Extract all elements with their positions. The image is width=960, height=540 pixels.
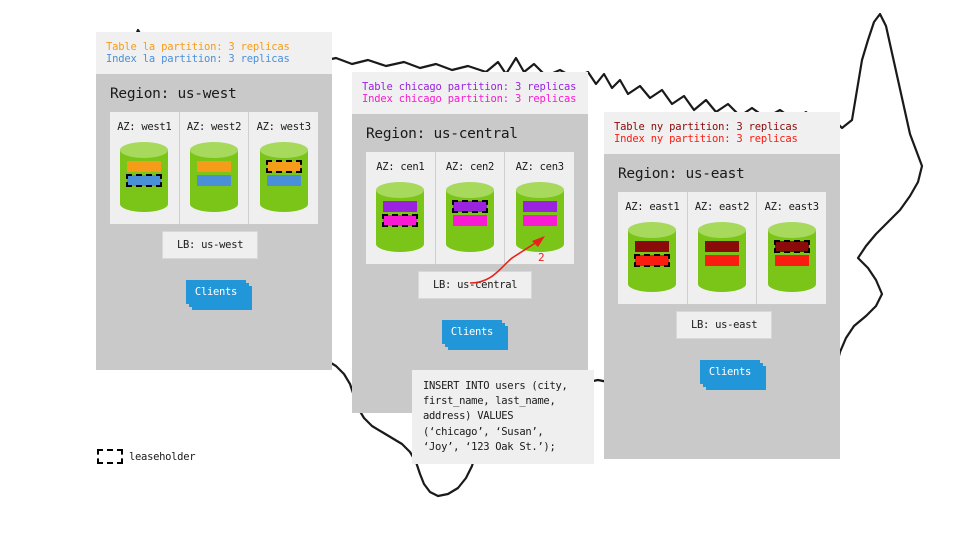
load-balancer-us-west[interactable]: LB: us-west <box>162 231 258 259</box>
table-partition-line-us-west: Table la partition: 3 replicas <box>106 41 322 53</box>
az-cell-west2[interactable]: AZ: west2 <box>180 112 250 224</box>
table-partition-line-us-east: Table ny partition: 3 replicas <box>614 121 830 133</box>
az-strip-us-east: AZ: east1AZ: east2AZ: east3 <box>618 192 826 304</box>
cylinder-top <box>120 142 168 158</box>
region-title-us-west: Region: us-west <box>96 74 332 112</box>
index-replica-west2[interactable] <box>197 175 231 186</box>
node-cylinder-cen3[interactable] <box>516 182 564 252</box>
clients-button[interactable]: Clients <box>442 320 502 344</box>
index-replica-east2[interactable] <box>705 255 739 266</box>
load-balancer-us-east[interactable]: LB: us-east <box>676 311 772 339</box>
legend-label: leaseholder <box>129 451 195 463</box>
sql-statement-callout: INSERT INTO users (city, first_name, las… <box>412 370 594 464</box>
region-panel-us-west: Table la partition: 3 replicasIndex la p… <box>96 32 332 370</box>
region-body-us-east: Region: us-eastAZ: east1AZ: east2AZ: eas… <box>604 154 840 459</box>
region-body-us-central: Region: us-centralAZ: cen1AZ: cen2AZ: ce… <box>352 114 588 413</box>
region-panel-us-east: Table ny partition: 3 replicasIndex ny p… <box>604 112 840 459</box>
annotation-label-2: 2 <box>538 251 545 264</box>
load-balancer-us-central[interactable]: LB: us-central <box>418 271 532 299</box>
table-replica-east2[interactable] <box>705 241 739 252</box>
table-replica-east1[interactable] <box>635 241 669 252</box>
node-cylinder-east3[interactable] <box>768 222 816 292</box>
region-header-us-central: Table chicago partition: 3 replicasIndex… <box>352 72 588 114</box>
cylinder-top <box>190 142 238 158</box>
az-strip-us-central: AZ: cen1AZ: cen2AZ: cen3 <box>366 152 574 264</box>
node-cylinder-cen1[interactable] <box>376 182 424 252</box>
table-replica-east3-leaseholder[interactable] <box>775 241 809 252</box>
cylinder-top <box>628 222 676 238</box>
az-strip-us-west: AZ: west1AZ: west2AZ: west3 <box>110 112 318 224</box>
node-cylinder-west2[interactable] <box>190 142 238 212</box>
node-cylinder-west1[interactable] <box>120 142 168 212</box>
region-body-us-west: Region: us-westAZ: west1AZ: west2AZ: wes… <box>96 74 332 370</box>
table-replica-cen1[interactable] <box>383 201 417 212</box>
az-label-east1: AZ: east1 <box>625 201 679 213</box>
az-cell-east3[interactable]: AZ: east3 <box>757 192 826 304</box>
index-replica-west1-leaseholder[interactable] <box>127 175 161 186</box>
index-replica-east1-leaseholder[interactable] <box>635 255 669 266</box>
table-replica-west1[interactable] <box>127 161 161 172</box>
clients-stack-us-west[interactable]: Clients <box>186 280 252 310</box>
node-cylinder-east1[interactable] <box>628 222 676 292</box>
clients-stack-us-central[interactable]: Clients <box>442 320 508 350</box>
table-replica-west3-leaseholder[interactable] <box>267 161 301 172</box>
az-cell-west3[interactable]: AZ: west3 <box>249 112 318 224</box>
az-cell-cen3[interactable]: AZ: cen3 <box>505 152 574 264</box>
az-label-cen2: AZ: cen2 <box>446 161 494 173</box>
node-cylinder-east2[interactable] <box>698 222 746 292</box>
index-replica-west3[interactable] <box>267 175 301 186</box>
az-cell-east2[interactable]: AZ: east2 <box>688 192 758 304</box>
region-title-us-east: Region: us-east <box>604 154 840 192</box>
table-partition-line-us-central: Table chicago partition: 3 replicas <box>362 81 578 93</box>
node-cylinder-west3[interactable] <box>260 142 308 212</box>
cylinder-top <box>768 222 816 238</box>
leaseholder-swatch-icon <box>97 449 123 464</box>
table-replica-cen2-leaseholder[interactable] <box>453 201 487 212</box>
az-cell-cen2[interactable]: AZ: cen2 <box>436 152 506 264</box>
index-partition-line-us-east: Index ny partition: 3 replicas <box>614 133 830 145</box>
table-replica-cen3[interactable] <box>523 201 557 212</box>
cylinder-top <box>446 182 494 198</box>
az-label-cen3: AZ: cen3 <box>516 161 564 173</box>
cylinder-top <box>698 222 746 238</box>
index-replica-cen1-leaseholder[interactable] <box>383 215 417 226</box>
table-replica-west2[interactable] <box>197 161 231 172</box>
az-label-east2: AZ: east2 <box>695 201 749 213</box>
clients-button[interactable]: Clients <box>186 280 246 304</box>
az-label-west3: AZ: west3 <box>257 121 311 133</box>
clients-stack-us-east[interactable]: Clients <box>700 360 766 390</box>
az-cell-east1[interactable]: AZ: east1 <box>618 192 688 304</box>
diagram-canvas: Table la partition: 3 replicasIndex la p… <box>0 0 960 540</box>
index-replica-cen2[interactable] <box>453 215 487 226</box>
index-replica-east3[interactable] <box>775 255 809 266</box>
clients-button[interactable]: Clients <box>700 360 760 384</box>
region-panel-us-central: Table chicago partition: 3 replicasIndex… <box>352 72 588 413</box>
index-replica-cen3[interactable] <box>523 215 557 226</box>
az-label-cen1: AZ: cen1 <box>376 161 424 173</box>
legend-leaseholder: leaseholder <box>97 449 195 464</box>
az-label-west2: AZ: west2 <box>187 121 241 133</box>
az-cell-west1[interactable]: AZ: west1 <box>110 112 180 224</box>
index-partition-line-us-west: Index la partition: 3 replicas <box>106 53 322 65</box>
cylinder-top <box>516 182 564 198</box>
index-partition-line-us-central: Index chicago partition: 3 replicas <box>362 93 578 105</box>
cylinder-top <box>260 142 308 158</box>
cylinder-top <box>376 182 424 198</box>
region-header-us-west: Table la partition: 3 replicasIndex la p… <box>96 32 332 74</box>
az-cell-cen1[interactable]: AZ: cen1 <box>366 152 436 264</box>
region-header-us-east: Table ny partition: 3 replicasIndex ny p… <box>604 112 840 154</box>
az-label-east3: AZ: east3 <box>765 201 819 213</box>
az-label-west1: AZ: west1 <box>117 121 171 133</box>
node-cylinder-cen2[interactable] <box>446 182 494 252</box>
region-title-us-central: Region: us-central <box>352 114 588 152</box>
